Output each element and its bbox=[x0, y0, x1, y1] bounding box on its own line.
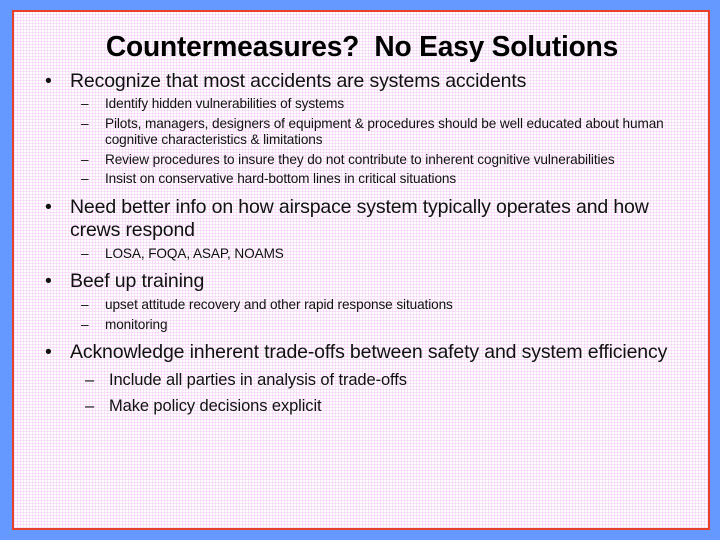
slide-content: Countermeasures? No Easy Solutions • Rec… bbox=[14, 12, 708, 528]
bullet-marker-icon: • bbox=[45, 341, 52, 364]
dash-marker-icon: – bbox=[85, 370, 94, 390]
bullet-level2: – Pilots, managers, designers of equipme… bbox=[81, 116, 685, 149]
bullet-level1-text: Beef up training bbox=[70, 270, 204, 292]
dash-marker-icon: – bbox=[81, 246, 88, 263]
bullet-level2: – upset attitude recovery and other rapi… bbox=[81, 297, 685, 314]
bullet-marker-icon: • bbox=[45, 270, 52, 293]
bullet-level2: – Identify hidden vulnerabilities of sys… bbox=[81, 96, 685, 113]
slide-inner-frame: Countermeasures? No Easy Solutions • Rec… bbox=[12, 10, 710, 530]
bullet-marker-icon: • bbox=[45, 70, 52, 93]
bullet-level2: – LOSA, FOQA, ASAP, NOAMS bbox=[81, 246, 685, 263]
bullet-marker-icon: • bbox=[45, 196, 52, 219]
bullet-level2: – Review procedures to insure they do no… bbox=[81, 152, 685, 169]
sub-bullet-list: – Include all parties in analysis of tra… bbox=[70, 370, 688, 416]
bullet-level2-text: Make policy decisions explicit bbox=[109, 397, 322, 415]
sub-bullet-list: – upset attitude recovery and other rapi… bbox=[70, 297, 688, 333]
bullet-level1-text: Need better info on how airspace system … bbox=[70, 196, 649, 241]
bullet-level2-text: Pilots, managers, designers of equipment… bbox=[105, 116, 664, 148]
bullet-level2: – Include all parties in analysis of tra… bbox=[85, 370, 688, 390]
bullet-level1: • Need better info on how airspace syste… bbox=[26, 196, 688, 263]
dash-marker-icon: – bbox=[85, 396, 94, 416]
bullet-level1: • Recognize that most accidents are syst… bbox=[26, 70, 688, 188]
bullet-level2: – Make policy decisions explicit bbox=[85, 396, 688, 416]
sub-bullet-list: – LOSA, FOQA, ASAP, NOAMS bbox=[70, 246, 688, 263]
bullet-level2-text: Include all parties in analysis of trade… bbox=[109, 371, 407, 389]
dash-marker-icon: – bbox=[81, 171, 88, 188]
bullet-level2-text: upset attitude recovery and other rapid … bbox=[105, 297, 453, 312]
dash-marker-icon: – bbox=[81, 96, 88, 113]
slide-title: Countermeasures? No Easy Solutions bbox=[36, 30, 688, 64]
presentation-slide: Countermeasures? No Easy Solutions • Rec… bbox=[0, 0, 720, 540]
dash-marker-icon: – bbox=[81, 317, 88, 334]
dash-marker-icon: – bbox=[81, 297, 88, 314]
sub-bullet-list: – Identify hidden vulnerabilities of sys… bbox=[70, 96, 688, 188]
bullet-level2: – monitoring bbox=[81, 317, 685, 334]
bullet-level1-text: Recognize that most accidents are system… bbox=[70, 70, 526, 92]
bullet-level2-text: monitoring bbox=[105, 317, 167, 332]
bullet-level2-text: Identify hidden vulnerabilities of syste… bbox=[105, 96, 344, 111]
bullet-level1: • Acknowledge inherent trade-offs betwee… bbox=[26, 341, 688, 416]
bullet-level2-text: LOSA, FOQA, ASAP, NOAMS bbox=[105, 246, 284, 261]
dash-marker-icon: – bbox=[81, 152, 88, 169]
dash-marker-icon: – bbox=[81, 116, 88, 133]
bullet-level1: • Beef up training – upset attitude reco… bbox=[26, 270, 688, 333]
bullet-level2-text: Review procedures to insure they do not … bbox=[105, 152, 615, 167]
bullet-level1-text: Acknowledge inherent trade-offs between … bbox=[70, 341, 667, 363]
bullet-level2: – Insist on conservative hard-bottom lin… bbox=[81, 171, 685, 188]
bullet-list: • Recognize that most accidents are syst… bbox=[26, 70, 698, 416]
bullet-level2-text: Insist on conservative hard-bottom lines… bbox=[105, 171, 456, 186]
